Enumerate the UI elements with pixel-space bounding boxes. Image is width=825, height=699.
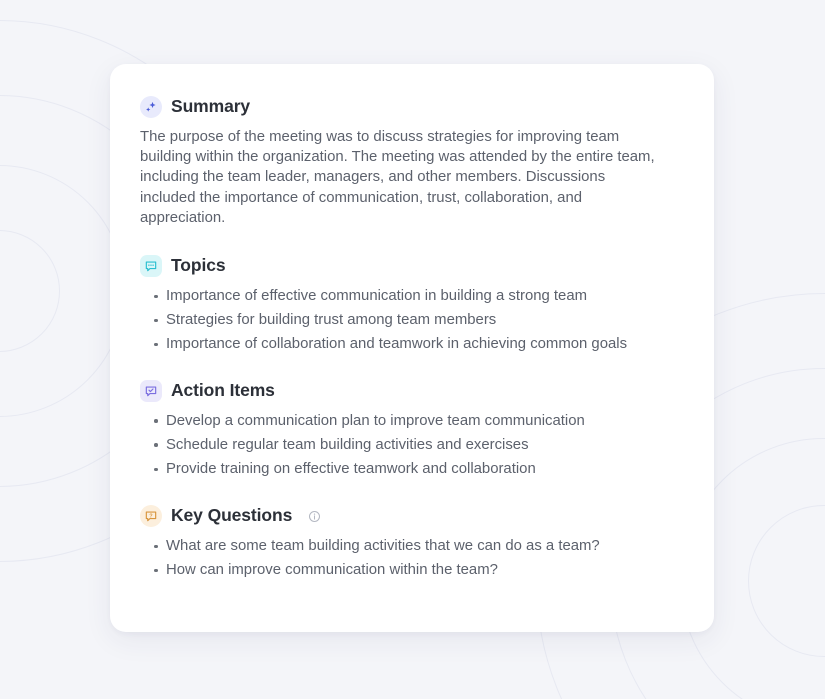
- list-item: Schedule regular team building activitie…: [140, 435, 684, 455]
- section-title: Action Items: [171, 382, 275, 400]
- list-item: Strategies for building trust among team…: [140, 310, 684, 330]
- topics-list: Importance of effective communication in…: [140, 286, 684, 355]
- key-questions-list: What are some team building activities t…: [140, 536, 684, 580]
- list-item: Provide training on effective teamwork a…: [140, 459, 684, 479]
- section-action-items-header: Action Items: [140, 380, 684, 402]
- speech-bubble-dots-icon: [140, 255, 162, 277]
- speech-bubble-question-icon: ?: [140, 505, 162, 527]
- list-item: How can improve communication within the…: [140, 560, 684, 580]
- section-summary-header: Summary: [140, 96, 684, 118]
- decorative-ring: [0, 230, 60, 352]
- section-title: Key Questions: [171, 507, 292, 525]
- section-topics-header: Topics: [140, 255, 684, 277]
- list-item: Develop a communication plan to improve …: [140, 411, 684, 431]
- action-items-list: Develop a communication plan to improve …: [140, 411, 684, 480]
- info-circle-icon[interactable]: [308, 510, 321, 523]
- spacer: [140, 355, 684, 380]
- decorative-ring: [0, 165, 125, 417]
- speech-bubble-check-icon: [140, 380, 162, 402]
- list-item: Importance of collaboration and teamwork…: [140, 334, 684, 354]
- section-key-questions: ? Key Questions What are some team build…: [140, 505, 684, 580]
- summary-body-text: The purpose of the meeting was to discus…: [140, 127, 668, 228]
- section-title: Topics: [171, 257, 226, 275]
- list-item: Importance of effective communication in…: [140, 286, 684, 306]
- list-item: What are some team building activities t…: [140, 536, 684, 556]
- section-topics: Topics Importance of effective communica…: [140, 255, 684, 355]
- decorative-ring: [748, 505, 825, 657]
- section-summary: Summary The purpose of the meeting was t…: [140, 96, 684, 228]
- sparkle-icon: [140, 96, 162, 118]
- spacer: [140, 479, 684, 505]
- spacer: [140, 228, 684, 255]
- section-key-questions-header: ? Key Questions: [140, 505, 684, 527]
- section-action-items: Action Items Develop a communication pla…: [140, 380, 684, 480]
- meeting-notes-card: Summary The purpose of the meeting was t…: [110, 64, 714, 632]
- section-title: Summary: [171, 98, 250, 116]
